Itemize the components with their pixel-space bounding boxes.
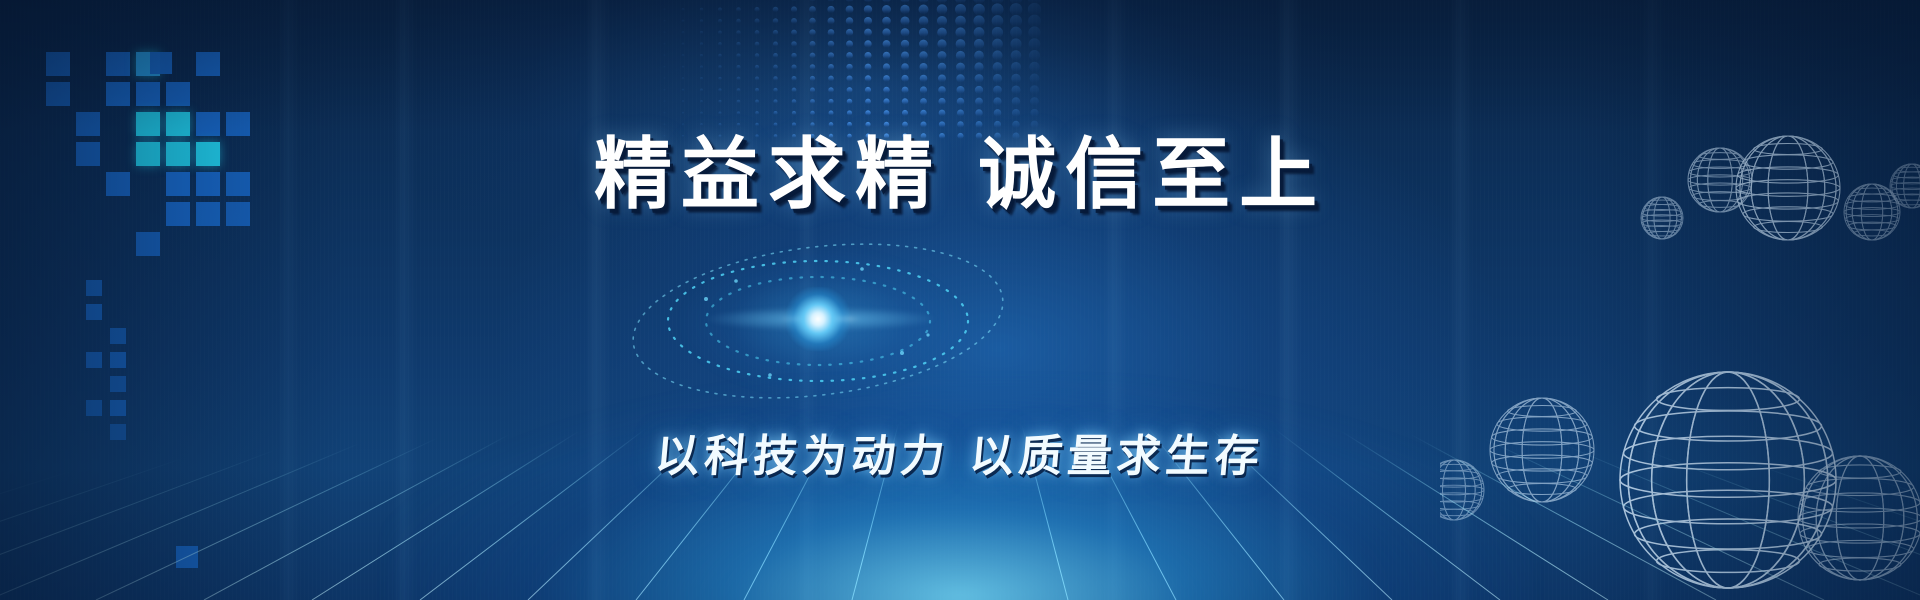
edge-vignette xyxy=(0,0,1920,600)
banner-subtitle: 以科技为动力 以质量求生存 xyxy=(0,420,1920,484)
banner-stage: 精益求精 诚信至上 以科技为动力 以质量求生存 xyxy=(0,0,1920,600)
banner-title: 精益求精 诚信至上 xyxy=(0,112,1920,224)
